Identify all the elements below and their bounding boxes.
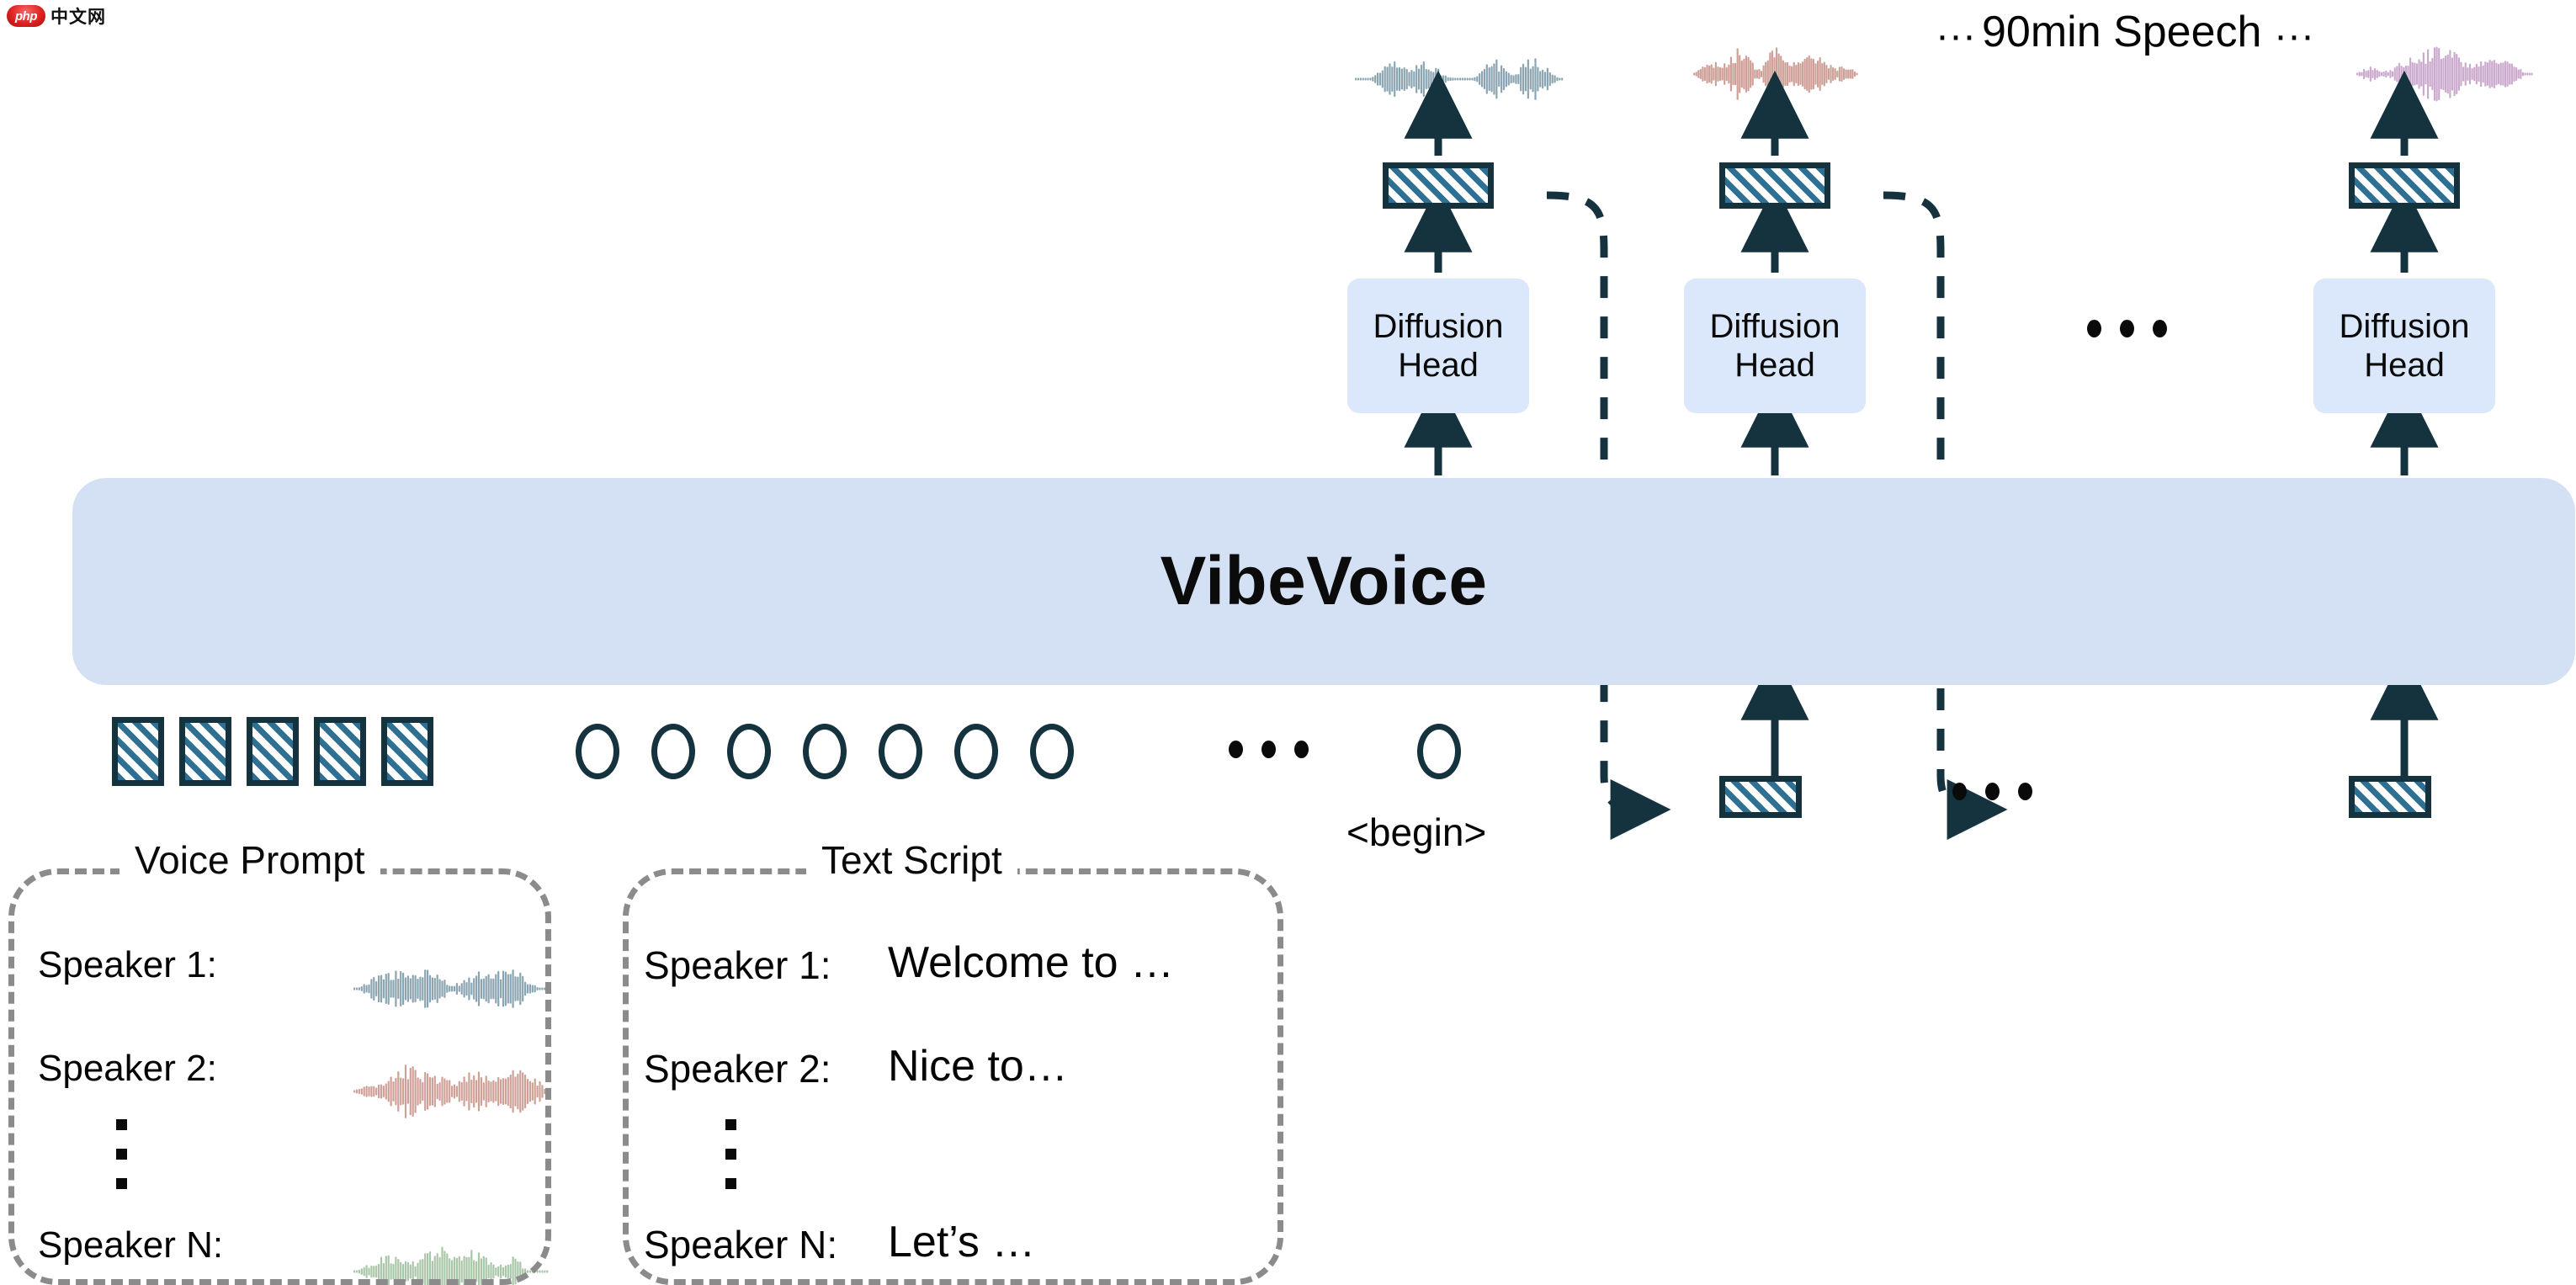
voice-prompt-token-1 bbox=[112, 717, 164, 786]
voice-prompt-speaker-n-label: Speaker N: bbox=[38, 1224, 223, 1266]
acoustic-token-output-3 bbox=[2349, 162, 2460, 209]
text-script-row-2-speaker: Speaker 2: bbox=[644, 1046, 831, 1091]
latent-acoustic-token-1 bbox=[1719, 776, 1802, 818]
voice-prompt-token-4 bbox=[314, 717, 366, 786]
voice-prompt-speaker-2-label: Speaker 2: bbox=[38, 1048, 217, 1090]
diffusion-head-1[interactable]: Diffusion Head bbox=[1347, 279, 1529, 413]
voice-prompt-token-2 bbox=[179, 717, 231, 786]
speaker2-output-waveform bbox=[1693, 47, 1858, 100]
voice-prompt-title: Voice Prompt bbox=[120, 837, 380, 883]
diffusion-head-line1: Diffusion bbox=[1710, 307, 1840, 346]
diffusion-head-line1: Diffusion bbox=[1373, 307, 1504, 346]
text-script-row-n-text: Let’s … bbox=[888, 1217, 1035, 1267]
diffusion-head-line1: Diffusion bbox=[2340, 307, 2470, 346]
speech-right-ellipsis: ··· bbox=[2274, 13, 2314, 59]
diffusion-head-3[interactable]: Diffusion Head bbox=[2313, 279, 2495, 413]
voice-prompt-token-3 bbox=[247, 717, 299, 786]
voice-prompt-token-5 bbox=[381, 717, 433, 786]
vibevoice-model-label: VibeVoice bbox=[72, 478, 2575, 685]
speech-left-ellipsis: ··· bbox=[1936, 13, 1976, 59]
text-token-3 bbox=[727, 724, 771, 779]
text-script-row-1-text: Welcome to … bbox=[888, 937, 1174, 988]
text-token-4 bbox=[803, 724, 847, 779]
diagram-canvas: php 中文网 bbox=[0, 0, 2576, 1285]
dashed-feedback-path-2a bbox=[1883, 195, 1941, 471]
diffusion-head-line2: Head bbox=[1734, 346, 1815, 385]
voice-prompt-vertical-ellipsis bbox=[116, 1119, 127, 1189]
latent-acoustic-token-2 bbox=[2349, 776, 2431, 818]
begin-token bbox=[1417, 724, 1461, 779]
text-token-1 bbox=[576, 724, 619, 779]
text-token-7 bbox=[1030, 724, 1074, 779]
diffusion-heads-ellipsis bbox=[2087, 320, 2167, 337]
text-script-vertical-ellipsis bbox=[725, 1119, 736, 1189]
latent-tokens-ellipsis bbox=[1952, 783, 2032, 800]
speaker1-output-waveform bbox=[1355, 58, 1563, 100]
begin-token-label: <begin> bbox=[1346, 810, 1486, 855]
text-script-row-1-speaker: Speaker 1: bbox=[644, 943, 831, 988]
text-token-2 bbox=[651, 724, 695, 779]
text-tokens-ellipsis bbox=[1229, 741, 1309, 758]
diffusion-head-2[interactable]: Diffusion Head bbox=[1684, 279, 1866, 413]
diffusion-head-line2: Head bbox=[1398, 346, 1479, 385]
voice-prompt-speaker-1-label: Speaker 1: bbox=[38, 944, 217, 986]
text-token-5 bbox=[879, 724, 922, 779]
diffusion-head-line2: Head bbox=[2364, 346, 2445, 385]
text-script-row-n-speaker: Speaker N: bbox=[644, 1222, 837, 1267]
text-script-title: Text Script bbox=[806, 837, 1017, 883]
text-token-6 bbox=[954, 724, 998, 779]
speakerN-output-waveform bbox=[2356, 47, 2533, 102]
speech-duration-label: 90min Speech bbox=[1982, 7, 2261, 57]
acoustic-token-output-2 bbox=[1719, 162, 1830, 209]
acoustic-token-output-1 bbox=[1383, 162, 1494, 209]
text-script-row-2-text: Nice to… bbox=[888, 1041, 1068, 1091]
